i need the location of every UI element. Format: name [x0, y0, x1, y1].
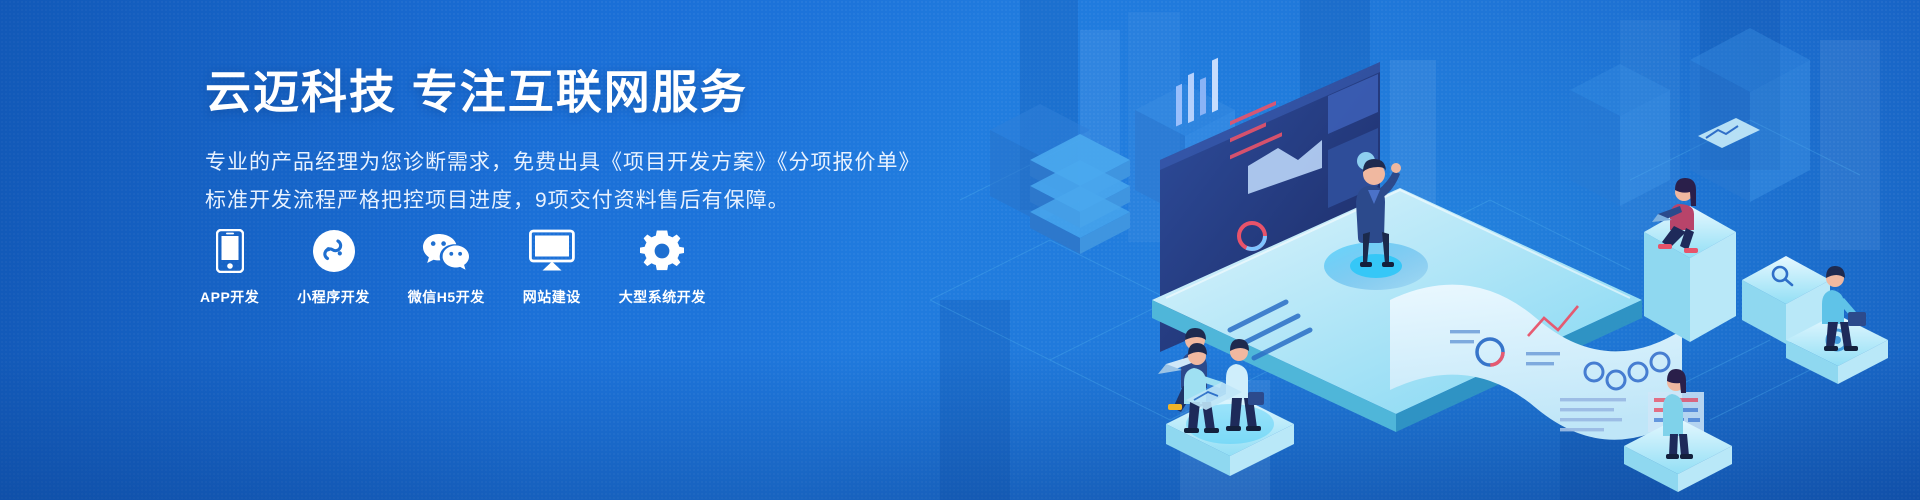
service-item-miniprogram[interactable]: 小程序开发	[297, 228, 370, 307]
service-item-website[interactable]: 网站建设	[523, 228, 581, 307]
page-title: 云迈科技 专注互联网服务	[205, 66, 921, 119]
service-label: 大型系统开发	[619, 287, 706, 307]
service-label: 微信H5开发	[408, 287, 485, 307]
isometric-team-analytics-illustration	[930, 0, 1920, 500]
service-label: APP开发	[200, 287, 259, 307]
service-list: APP开发 小程序开发	[200, 228, 706, 307]
subtitle-line-1: 专业的产品经理为您诊断需求，免费出具《项目开发方案》《分项报价单》	[205, 145, 921, 181]
hero-copy: 云迈科技 专注互联网服务 专业的产品经理为您诊断需求，免费出具《项目开发方案》《…	[205, 66, 921, 219]
hero-banner: 云迈科技 专注互联网服务 专业的产品经理为您诊断需求，免费出具《项目开发方案》《…	[0, 0, 1920, 500]
service-label: 小程序开发	[297, 287, 370, 307]
subtitle-line-2: 标准开发流程严格把控项目进度，9项交付资料售后有保障。	[205, 183, 921, 219]
service-item-large-system[interactable]: 大型系统开发	[619, 228, 706, 307]
service-label: 网站建设	[523, 287, 581, 307]
wechat-icon	[420, 228, 472, 274]
service-item-app[interactable]: APP开发	[200, 228, 259, 307]
service-item-wechat-h5[interactable]: 微信H5开发	[408, 228, 485, 307]
mini-program-icon	[312, 228, 356, 274]
gear-icon	[640, 228, 684, 274]
monitor-icon	[529, 228, 575, 274]
mobile-phone-icon	[216, 228, 244, 274]
